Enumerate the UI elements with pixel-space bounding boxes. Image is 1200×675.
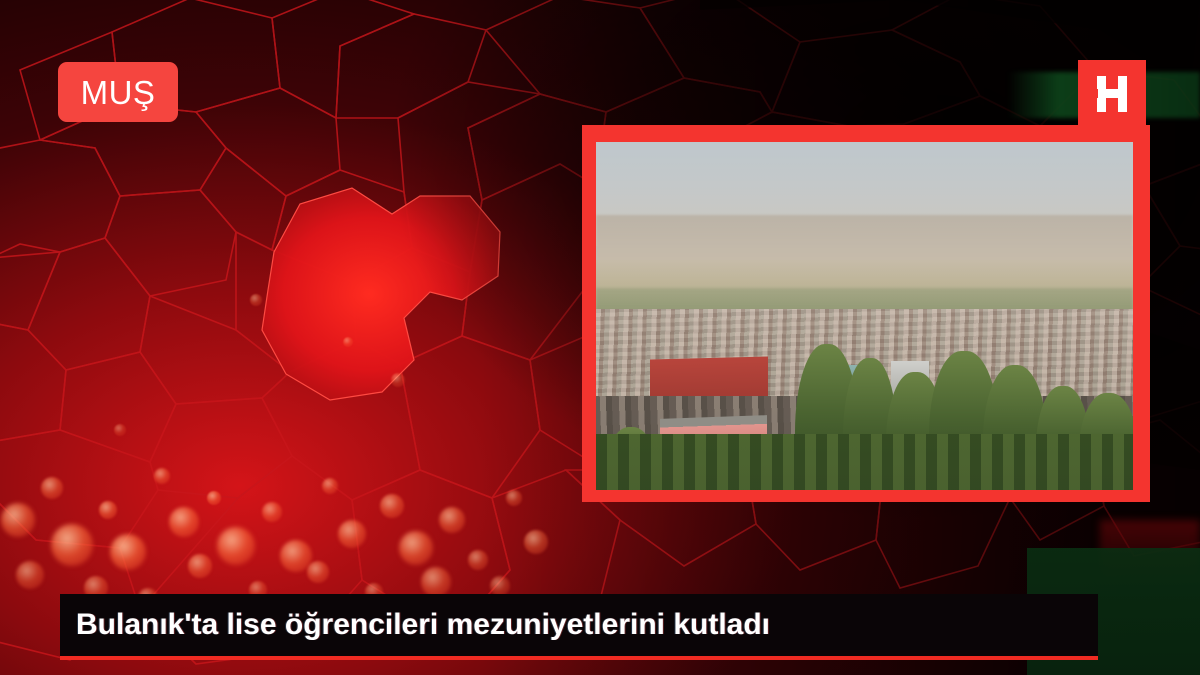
city-badge-label: MUŞ (81, 76, 156, 109)
headline-text: Bulanık'ta lise öğrencileri mezuniyetler… (76, 610, 770, 640)
news-photo (596, 142, 1133, 490)
photo-atmospheric-haze (596, 142, 1133, 490)
news-card-canvas: MUŞ (0, 0, 1200, 675)
haberler-h-logo[interactable] (1078, 60, 1146, 128)
headline-underline-rule (60, 656, 1098, 660)
h-letter-icon (1089, 71, 1135, 117)
city-badge[interactable]: MUŞ (58, 62, 178, 122)
news-photo-frame[interactable] (582, 125, 1150, 502)
headline-bar[interactable]: Bulanık'ta lise öğrencileri mezuniyetler… (60, 594, 1098, 656)
